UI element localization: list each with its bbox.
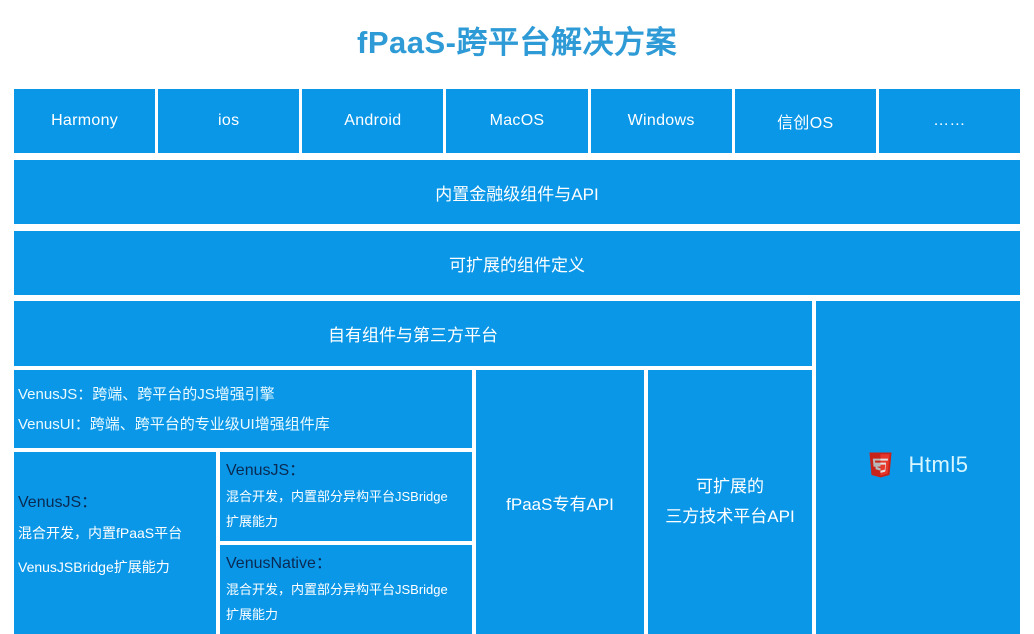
band-own-and-third-party[interactable]: 自有组件与第三方平台 bbox=[14, 301, 812, 366]
venusjs-engine-line: VenusJS：跨端、跨平台的JS增强引擎 bbox=[18, 386, 275, 403]
platform-tile-android[interactable]: Android bbox=[302, 89, 443, 153]
band-label: 可扩展的组件定义 bbox=[449, 251, 585, 276]
band-extensible-component-definition[interactable]: 可扩展的组件定义 bbox=[14, 231, 1020, 295]
html5-tile[interactable]: Html5 bbox=[816, 301, 1020, 634]
platform-label: Harmony bbox=[51, 112, 118, 130]
platform-label: Android bbox=[344, 112, 401, 130]
band-label: 内置金融级组件与API bbox=[435, 180, 598, 205]
lower-section: 自有组件与第三方平台 VenusJS：跨端、跨平台的JS增强引擎 VenusUI… bbox=[14, 301, 1020, 634]
page-title: fPaaS-跨平台解决方案 bbox=[357, 17, 677, 62]
platform-label: 信创OS bbox=[777, 109, 833, 133]
platform-tile-harmony[interactable]: Harmony bbox=[14, 89, 155, 153]
venus-engines-tile[interactable]: VenusJS：跨端、跨平台的JS增强引擎 VenusUI：跨端、跨平台的专业级… bbox=[14, 370, 472, 448]
fpaas-proprietary-api-tile[interactable]: fPaaS专有API bbox=[476, 370, 644, 634]
html5-label: Html5 bbox=[909, 452, 969, 478]
band-builtin-financial-api[interactable]: 内置金融级组件与API bbox=[14, 160, 1020, 224]
platform-tile-windows[interactable]: Windows bbox=[591, 89, 732, 153]
hybrid-line-2: 扩展能力 bbox=[226, 509, 466, 534]
slide-canvas: fPaaS-跨平台解决方案 Harmony ios Android MacOS … bbox=[0, 0, 1034, 634]
hybrid-line-1: 混合开发，内置部分异构平台JSBridge bbox=[226, 484, 466, 509]
slide-title-bar: fPaaS-跨平台解决方案 bbox=[0, 0, 1034, 78]
platform-tile-ios[interactable]: ios bbox=[158, 89, 299, 153]
platform-label: Windows bbox=[628, 112, 695, 130]
hybrid-label: VenusJS： bbox=[18, 490, 212, 516]
venusui-engine-line: VenusUI：跨端、跨平台的专业级UI增强组件库 bbox=[18, 416, 330, 433]
third-party-api-line-2: 三方技术平台API bbox=[665, 502, 794, 532]
lower-left-stack: 自有组件与第三方平台 VenusJS：跨端、跨平台的JS增强引擎 VenusUI… bbox=[14, 301, 812, 634]
platform-tile-more[interactable]: …… bbox=[879, 89, 1020, 153]
hybrid-stack: VenusJS： 混合开发，内置部分异构平台JSBridge 扩展能力 Venu… bbox=[220, 452, 472, 634]
hybrid-venusnative-tile[interactable]: VenusNative： 混合开发，内置部分异构平台JSBridge 扩展能力 bbox=[220, 545, 472, 634]
hybrid-label: VenusJS： bbox=[226, 458, 466, 484]
third-party-api-label: 可扩展的 三方技术平台API bbox=[665, 472, 794, 532]
hybrid-line-1: 混合开发，内置fPaaS平台 bbox=[18, 516, 212, 550]
hybrid-label: VenusNative： bbox=[226, 551, 466, 577]
fpaas-api-label: fPaaS专有API bbox=[506, 490, 614, 515]
venus-column: VenusJS：跨端、跨平台的JS增强引擎 VenusUI：跨端、跨平台的专业级… bbox=[14, 370, 472, 634]
html5-shield-icon bbox=[868, 450, 893, 480]
third-party-api-tile[interactable]: 可扩展的 三方技术平台API bbox=[648, 370, 812, 634]
hybrid-line-2: VenusJSBridge扩展能力 bbox=[18, 550, 212, 584]
band-label: 自有组件与第三方平台 bbox=[328, 321, 498, 346]
html5-content: Html5 bbox=[868, 450, 969, 480]
hybrid-line-2: 扩展能力 bbox=[226, 602, 466, 627]
platform-label: …… bbox=[933, 112, 966, 130]
hybrid-line-1: 混合开发，内置部分异构平台JSBridge bbox=[226, 577, 466, 602]
platform-row: Harmony ios Android MacOS Windows 信创OS …… bbox=[14, 89, 1020, 153]
third-party-api-line-1: 可扩展的 bbox=[665, 472, 794, 502]
platform-tile-xinchuang-os[interactable]: 信创OS bbox=[735, 89, 876, 153]
venus-hybrid-row: VenusJS： 混合开发，内置fPaaS平台 VenusJSBridge扩展能… bbox=[14, 452, 472, 634]
html5-column: Html5 bbox=[816, 301, 1020, 634]
platform-label: MacOS bbox=[490, 112, 545, 130]
hybrid-venusjs-tile[interactable]: VenusJS： 混合开发，内置部分异构平台JSBridge 扩展能力 bbox=[220, 452, 472, 541]
detail-grid: VenusJS：跨端、跨平台的JS增强引擎 VenusUI：跨端、跨平台的专业级… bbox=[14, 370, 812, 634]
platform-label: ios bbox=[218, 112, 239, 130]
platform-tile-macos[interactable]: MacOS bbox=[446, 89, 587, 153]
hybrid-venusjs-fpaas-tile[interactable]: VenusJS： 混合开发，内置fPaaS平台 VenusJSBridge扩展能… bbox=[14, 452, 216, 634]
